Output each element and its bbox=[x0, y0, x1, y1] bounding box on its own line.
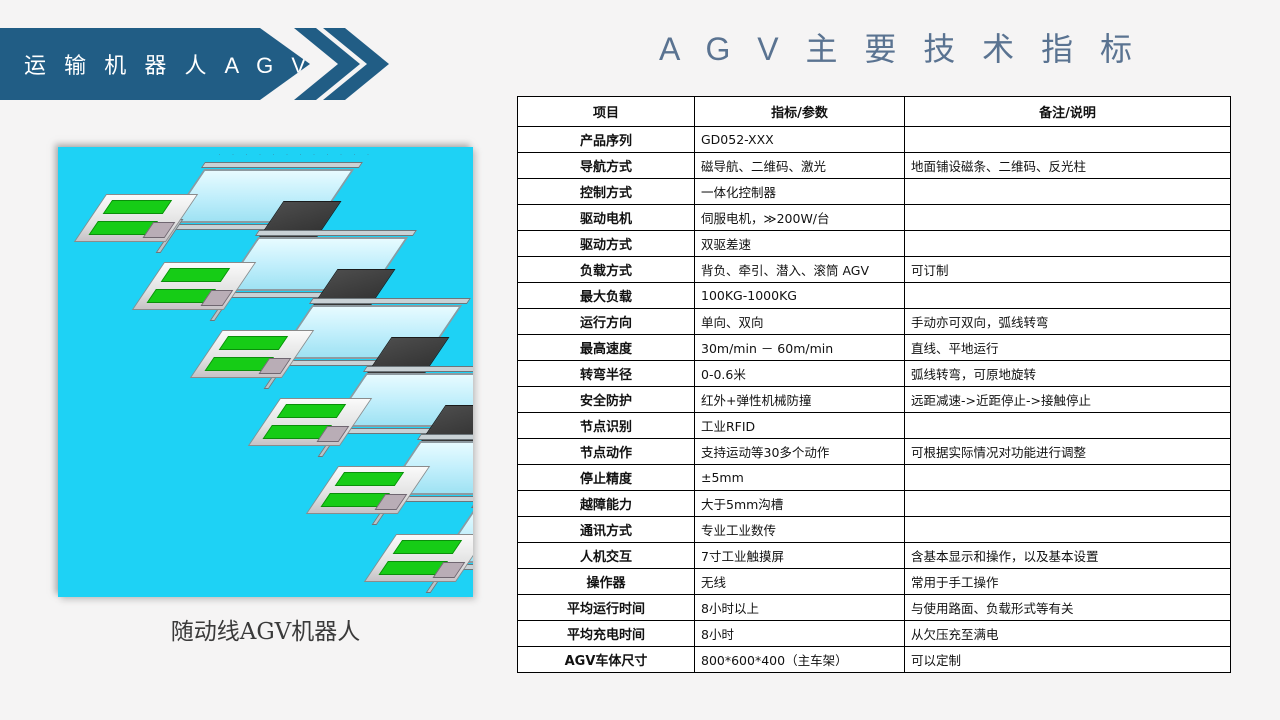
table-row: 转弯半径0-0.6米弧线转弯，可原地旋转 bbox=[518, 361, 1231, 387]
cell-spec: 7寸工业触摸屏 bbox=[695, 543, 905, 569]
cell-note: 可以定制 bbox=[905, 647, 1231, 673]
table-row: 操作器无线常用于手工操作 bbox=[518, 569, 1231, 595]
cell-spec: 工业RFID bbox=[695, 413, 905, 439]
cell-item: 控制方式 bbox=[518, 179, 695, 205]
cell-spec: 无线 bbox=[695, 569, 905, 595]
cell-note bbox=[905, 231, 1231, 257]
cell-item: 产品序列 bbox=[518, 127, 695, 153]
cell-item: 负载方式 bbox=[518, 257, 695, 283]
banner-label: 运 输 机 器 人 A G V bbox=[0, 48, 312, 80]
table-row: 最高速度30m/min － 60m/min直线、平地运行 bbox=[518, 335, 1231, 361]
table-row: 越障能力大于5mm沟槽 bbox=[518, 491, 1231, 517]
cell-item: 平均运行时间 bbox=[518, 595, 695, 621]
section-banner: 运 输 机 器 人 A G V bbox=[0, 28, 390, 100]
cell-note: 可根据实际情况对功能进行调整 bbox=[905, 439, 1231, 465]
cell-item: 运行方向 bbox=[518, 309, 695, 335]
table-row: 通讯方式专业工业数传 bbox=[518, 517, 1231, 543]
cell-spec: 8小时 bbox=[695, 621, 905, 647]
conveyor-rail-left bbox=[363, 366, 473, 372]
table-row: 安全防护红外+弹性机械防撞远距减速->近距停止->接触停止 bbox=[518, 387, 1231, 413]
table-row: 停止精度±5mm bbox=[518, 465, 1231, 491]
cell-item: 人机交互 bbox=[518, 543, 695, 569]
cell-spec: 8小时以上 bbox=[695, 595, 905, 621]
table-row: 驱动方式双驱差速 bbox=[518, 231, 1231, 257]
cell-note bbox=[905, 465, 1231, 491]
slide-root: 运 输 机 器 人 A G V A G V 主 要 技 术 指 标 · · · … bbox=[0, 0, 1280, 720]
table-body: 产品序列GD052-XXX导航方式磁导航、二维码、激光地面铺设磁条、二维码、反光… bbox=[518, 127, 1231, 673]
column-header-note: 备注/说明 bbox=[905, 97, 1231, 127]
conveyor-rail-left bbox=[309, 298, 471, 304]
conveyor-rail-left bbox=[417, 434, 473, 440]
cell-note bbox=[905, 413, 1231, 439]
cell-note: 与使用路面、负载形式等有关 bbox=[905, 595, 1231, 621]
cell-spec: 伺服电机，≫200W/台 bbox=[695, 205, 905, 231]
cell-item: 最大负载 bbox=[518, 283, 695, 309]
agv-load-pad bbox=[277, 404, 346, 418]
column-header-spec: 指标/参数 bbox=[695, 97, 905, 127]
cell-spec: 支持运动等30多个动作 bbox=[695, 439, 905, 465]
cell-spec: 双驱差速 bbox=[695, 231, 905, 257]
table-header-row: 项目 指标/参数 备注/说明 bbox=[518, 97, 1231, 127]
agv-load-pad bbox=[161, 268, 230, 282]
table-row: 节点识别工业RFID bbox=[518, 413, 1231, 439]
cell-spec: 磁导航、二维码、激光 bbox=[695, 153, 905, 179]
cell-spec: GD052-XXX bbox=[695, 127, 905, 153]
product-image: · · · · · · · · · · · · bbox=[58, 147, 473, 597]
table-row: 平均充电时间8小时从欠压充至满电 bbox=[518, 621, 1231, 647]
cell-spec: 0-0.6米 bbox=[695, 361, 905, 387]
table-row: 驱动电机伺服电机，≫200W/台 bbox=[518, 205, 1231, 231]
page-title: A G V 主 要 技 术 指 标 bbox=[600, 24, 1200, 70]
table-row: 控制方式一体化控制器 bbox=[518, 179, 1231, 205]
cell-spec: 一体化控制器 bbox=[695, 179, 905, 205]
table-row: 平均运行时间8小时以上与使用路面、负载形式等有关 bbox=[518, 595, 1231, 621]
cell-item: 节点识别 bbox=[518, 413, 695, 439]
table-row: AGV车体尺寸800*600*400（主车架）可以定制 bbox=[518, 647, 1231, 673]
cell-spec: 背负、牵引、潜入、滚筒 AGV bbox=[695, 257, 905, 283]
cell-spec: 100KG-1000KG bbox=[695, 283, 905, 309]
cell-spec: ±5mm bbox=[695, 465, 905, 491]
table-row: 运行方向单向、双向手动亦可双向，弧线转弯 bbox=[518, 309, 1231, 335]
agv-load-pad bbox=[335, 472, 404, 486]
image-caption: 随动线AGV机器人 bbox=[58, 612, 473, 646]
cell-note bbox=[905, 179, 1231, 205]
banner-shape: 运 输 机 器 人 A G V bbox=[0, 28, 310, 100]
table-row: 负载方式背负、牵引、潜入、滚筒 AGV可订制 bbox=[518, 257, 1231, 283]
cell-note: 远距减速->近距停止->接触停止 bbox=[905, 387, 1231, 413]
table-row: 最大负载100KG-1000KG bbox=[518, 283, 1231, 309]
cell-note bbox=[905, 127, 1231, 153]
cell-item: 停止精度 bbox=[518, 465, 695, 491]
cell-spec: 30m/min － 60m/min bbox=[695, 335, 905, 361]
cell-note: 常用于手工操作 bbox=[905, 569, 1231, 595]
spec-table: 项目 指标/参数 备注/说明 产品序列GD052-XXX导航方式磁导航、二维码、… bbox=[517, 96, 1231, 673]
table-row: 导航方式磁导航、二维码、激光地面铺设磁条、二维码、反光柱 bbox=[518, 153, 1231, 179]
cell-note: 从欠压充至满电 bbox=[905, 621, 1231, 647]
cell-note bbox=[905, 205, 1231, 231]
cell-note: 地面铺设磁条、二维码、反光柱 bbox=[905, 153, 1231, 179]
cell-item: 通讯方式 bbox=[518, 517, 695, 543]
cell-item: 驱动方式 bbox=[518, 231, 695, 257]
agv-load-pad bbox=[393, 540, 462, 554]
cell-spec: 单向、双向 bbox=[695, 309, 905, 335]
conveyor-rail-left bbox=[255, 230, 417, 236]
cell-note bbox=[905, 517, 1231, 543]
conveyor-rail-left bbox=[201, 162, 363, 168]
column-header-item: 项目 bbox=[518, 97, 695, 127]
cell-item: 节点动作 bbox=[518, 439, 695, 465]
cell-note bbox=[905, 283, 1231, 309]
cell-item: 驱动电机 bbox=[518, 205, 695, 231]
cell-item: 安全防护 bbox=[518, 387, 695, 413]
cell-item: 平均充电时间 bbox=[518, 621, 695, 647]
cell-spec: 红外+弹性机械防撞 bbox=[695, 387, 905, 413]
table-row: 产品序列GD052-XXX bbox=[518, 127, 1231, 153]
cell-item: 转弯半径 bbox=[518, 361, 695, 387]
agv-load-pad bbox=[103, 200, 172, 214]
cell-item: 最高速度 bbox=[518, 335, 695, 361]
table-row: 节点动作支持运动等30多个动作可根据实际情况对功能进行调整 bbox=[518, 439, 1231, 465]
agv-load-pad bbox=[219, 336, 288, 350]
cell-note: 含基本显示和操作，以及基本设置 bbox=[905, 543, 1231, 569]
cell-spec: 专业工业数传 bbox=[695, 517, 905, 543]
image-watermark: · · · · · · · · · · · · bbox=[218, 149, 458, 161]
cell-item: 越障能力 bbox=[518, 491, 695, 517]
cell-note: 可订制 bbox=[905, 257, 1231, 283]
cell-item: AGV车体尺寸 bbox=[518, 647, 695, 673]
cell-note bbox=[905, 491, 1231, 517]
cell-spec: 大于5mm沟槽 bbox=[695, 491, 905, 517]
cell-item: 导航方式 bbox=[518, 153, 695, 179]
cell-spec: 800*600*400（主车架） bbox=[695, 647, 905, 673]
table-row: 人机交互7寸工业触摸屏含基本显示和操作，以及基本设置 bbox=[518, 543, 1231, 569]
cell-item: 操作器 bbox=[518, 569, 695, 595]
cell-note: 弧线转弯，可原地旋转 bbox=[905, 361, 1231, 387]
cell-note: 直线、平地运行 bbox=[905, 335, 1231, 361]
cell-note: 手动亦可双向，弧线转弯 bbox=[905, 309, 1231, 335]
